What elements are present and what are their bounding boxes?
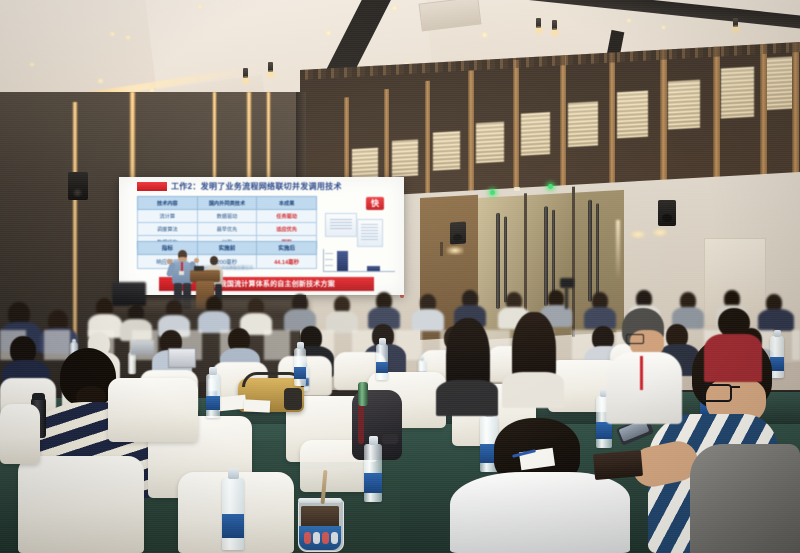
attendee-long-hair [432, 318, 502, 416]
exit-indicator-icon [490, 190, 495, 195]
wall-sconce [630, 230, 646, 239]
table-row: 调度算法 最早优先 适应优先 [138, 223, 317, 236]
wall-speaker-icon [68, 172, 88, 200]
water-bottle [294, 348, 306, 386]
table-header-cell: 本成果 [257, 197, 317, 210]
water-bottle [376, 344, 388, 380]
attendee-red-shirt [700, 308, 766, 382]
attendee-long-hair [500, 312, 568, 408]
chart-bar-after [367, 266, 380, 271]
glasses-icon [702, 384, 732, 402]
water-bottle [206, 374, 220, 418]
slide-accent-bar [137, 182, 167, 191]
bubble-tea-cup [298, 492, 342, 550]
laptop [168, 348, 196, 368]
conference-hall-photo: 工作2：发明了业务流程网络联切并发调用技术 快 技术内容 国内外同类技术 本成果… [0, 0, 800, 553]
slide-bar-chart [319, 247, 397, 275]
slide-title: 工作2：发明了业务流程网络联切并发调用技术 [171, 181, 386, 192]
attendee-grey-suit [690, 444, 800, 553]
wall-speaker-icon [658, 200, 676, 226]
laptop-on-lectern [194, 266, 204, 271]
attendee-white-shirt [440, 418, 640, 553]
certificate-thumbnail [325, 213, 357, 237]
table-row: 流计算 数据驱动 任务驱动 [138, 210, 317, 223]
water-bottle-front [364, 444, 382, 502]
chair-front [18, 456, 144, 553]
green-bottle [358, 382, 368, 406]
slide-table-technology: 技术内容 国内外同类技术 本成果 流计算 数据驱动 任务驱动 调度算法 最早优先… [137, 196, 317, 238]
exit-indicator-icon [548, 184, 553, 189]
attendee-glasses-white-shirt [596, 308, 688, 424]
chair-front [0, 404, 40, 464]
paper-sheet [244, 399, 271, 412]
table-header-cell: 国内外同类技术 [197, 197, 257, 210]
wall-sconce [446, 246, 464, 255]
chart-bar-before [337, 251, 348, 271]
water-bottle-front [222, 478, 244, 550]
table-header-cell: 实施后 [257, 242, 317, 255]
paper-sheet [217, 395, 246, 412]
notebook [593, 450, 643, 480]
slide-logo-badge: 快 [366, 197, 384, 210]
wall-speaker-icon [450, 222, 466, 245]
wall-sconce [652, 228, 668, 237]
certificate-thumbnail [357, 219, 383, 247]
table-header-cell: 技术内容 [138, 197, 198, 210]
chair-front [108, 378, 198, 442]
